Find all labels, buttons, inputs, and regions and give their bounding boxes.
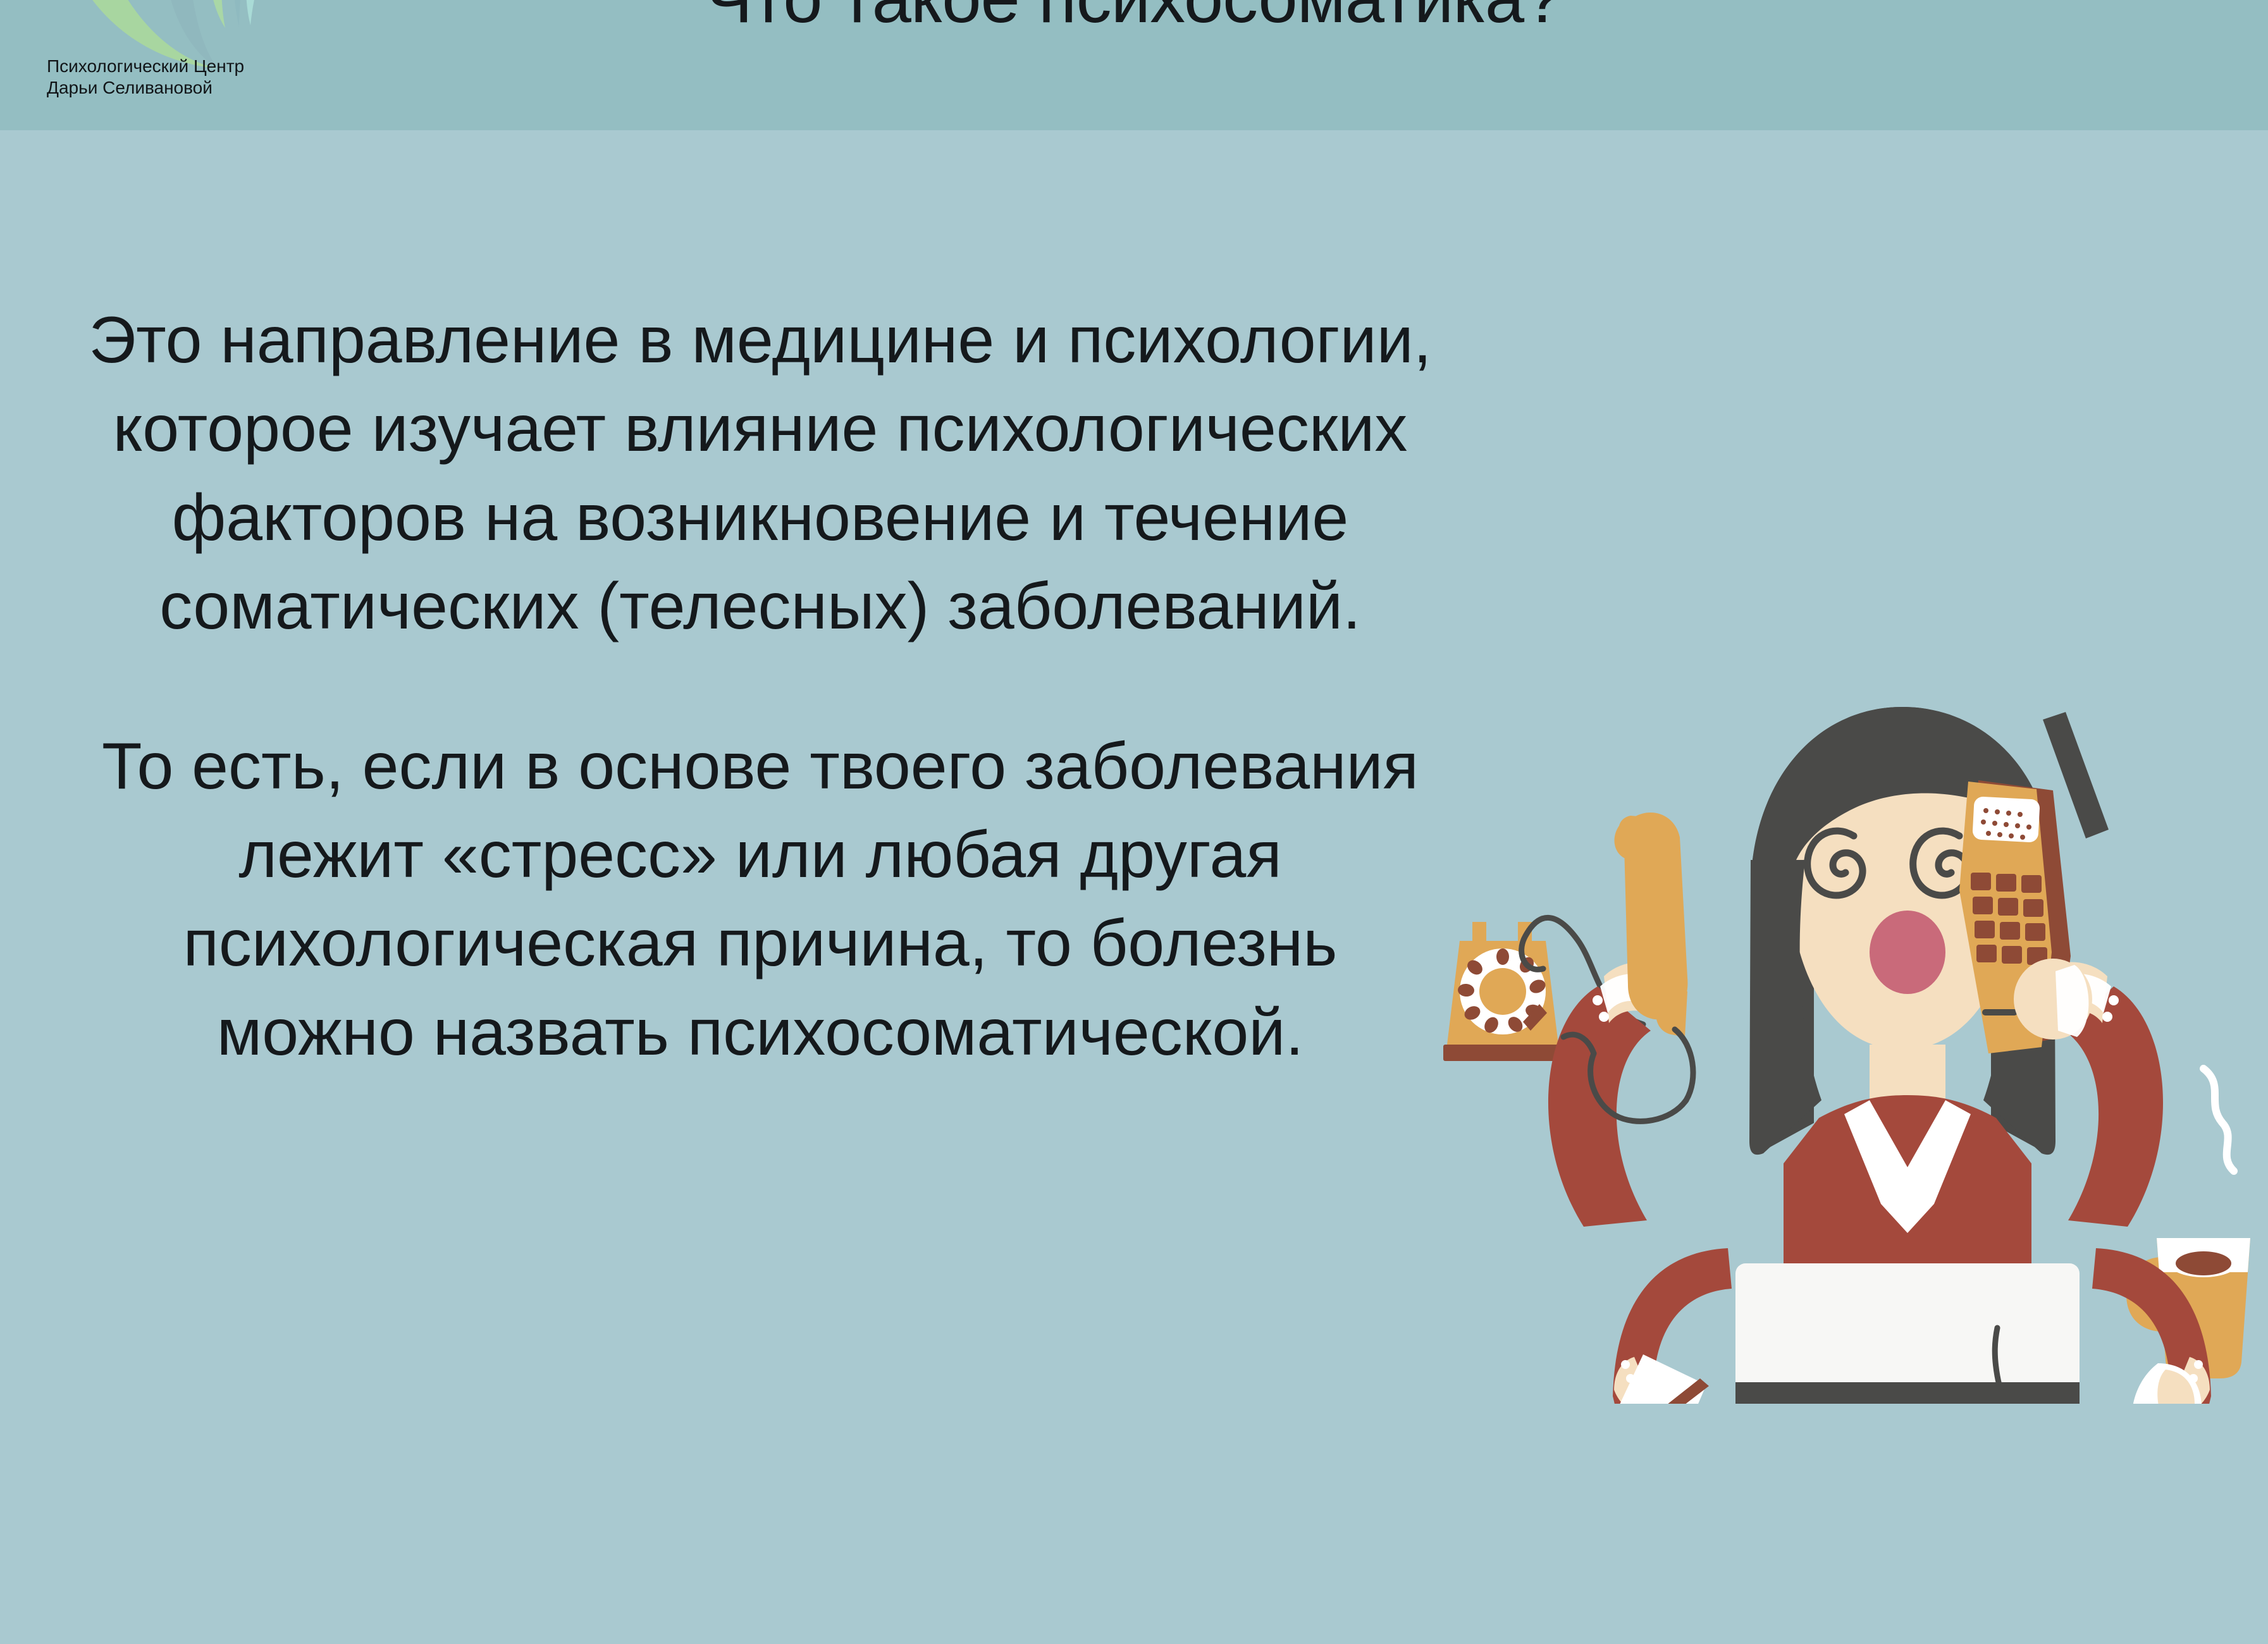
laptop-icon [1735,1263,2080,1404]
body-copy: Это направление в медицине и психологии,… [77,296,1443,1077]
paragraph-2: То есть, если в основе твоего заболевани… [77,722,1443,1077]
logo-text: Психологический Центр Дарьи Селивановой [47,56,244,99]
woman-torso [1784,1095,2031,1266]
mouth-icon [1870,911,1945,994]
steam-icon [2203,1069,2234,1171]
header-band: Психологический Центр Дарьи Селивановой … [0,0,2268,130]
paragraph-spacer [77,651,1443,722]
logo-line-2: Дарьи Селивановой [47,77,244,99]
slide-canvas: Психологический Центр Дарьи Селивановой … [0,0,2268,1644]
stressed-multitasking-woman-illustration [1434,594,2268,1404]
rotary-telephone-icon [1443,922,1562,1061]
logo-line-1: Психологический Центр [47,56,244,77]
page-title: Что такое психосоматика? [0,0,2268,39]
paragraph-1: Это направление в медицине и психологии,… [77,296,1443,651]
